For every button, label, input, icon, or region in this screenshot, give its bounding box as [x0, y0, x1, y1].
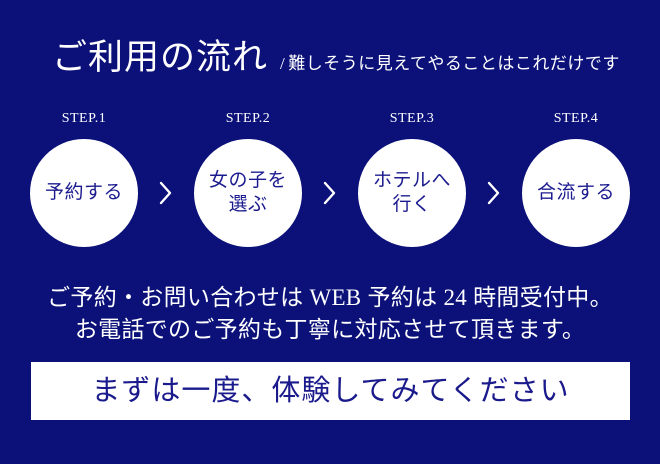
chevron-right-icon: [486, 180, 502, 206]
section-heading: ご利用の流れ /難しそうに見えてやることはこれだけです: [52, 40, 620, 75]
contact-line-2: お電話でのご予約も丁寧に対応させて頂きます。: [0, 314, 660, 346]
step-item-1[interactable]: STEP.1 予約する: [30, 112, 138, 247]
heading-separator-slash: /: [280, 54, 285, 73]
step-circle-text-1: 予約する: [39, 181, 129, 205]
step-label-3: STEP.3: [390, 112, 435, 126]
heading-subtitle-text: 難しそうに見えてやることはこれだけです: [288, 54, 620, 73]
contact-line-1: ご予約・お問い合わせは WEB 予約は 24 時間受付中。: [0, 282, 660, 314]
step-circle-2[interactable]: 女の子を 選ぶ: [194, 139, 302, 247]
step-separator-2: [302, 139, 358, 247]
step-circle-text-2: 女の子を 選ぶ: [203, 169, 293, 217]
chevron-right-icon: [158, 180, 174, 206]
cta-banner[interactable]: まずは一度、体験してみてください: [31, 362, 630, 420]
step-separator-1: [138, 139, 194, 247]
step-circle-text-3: ホテルへ 行く: [367, 169, 457, 217]
contact-info: ご予約・お問い合わせは WEB 予約は 24 時間受付中。 お電話でのご予約も丁…: [0, 282, 660, 345]
step-circle-4[interactable]: 合流する: [522, 139, 630, 247]
step-item-4[interactable]: STEP.4 合流する: [522, 112, 630, 247]
step-circle-text-4: 合流する: [531, 181, 621, 205]
step-circle-3[interactable]: ホテルへ 行く: [358, 139, 466, 247]
cta-text: まずは一度、体験してみてください: [91, 377, 569, 406]
step-circle-1[interactable]: 予約する: [30, 139, 138, 247]
heading-subtitle: /難しそうに見えてやることはこれだけです: [280, 55, 620, 72]
steps-row: STEP.1 予約する STEP.2 女の子を 選ぶ: [0, 112, 660, 247]
heading-title: ご利用の流れ: [52, 40, 268, 75]
chevron-right-icon: [322, 180, 338, 206]
step-separator-3: [466, 139, 522, 247]
step-item-2[interactable]: STEP.2 女の子を 選ぶ: [194, 112, 302, 247]
step-label-1: STEP.1: [62, 112, 107, 126]
step-label-4: STEP.4: [554, 112, 599, 126]
step-label-2: STEP.2: [226, 112, 271, 126]
step-item-3[interactable]: STEP.3 ホテルへ 行く: [358, 112, 466, 247]
flow-banner: ご利用の流れ /難しそうに見えてやることはこれだけです STEP.1 予約する …: [0, 0, 660, 464]
